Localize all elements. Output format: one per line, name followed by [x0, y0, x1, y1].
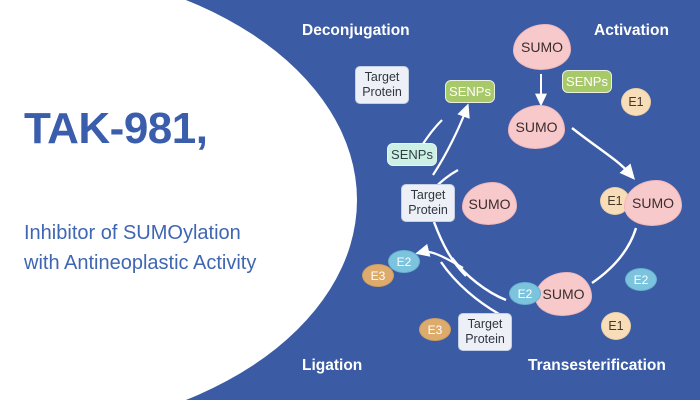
- node-e3-ligation: E3: [362, 264, 394, 287]
- node-senps-green-top: SENPs: [562, 70, 612, 93]
- target-protein-line-2: Protein: [465, 332, 505, 347]
- node-sumo-free: SUMO: [513, 24, 571, 70]
- node-e1-free: E1: [601, 312, 631, 340]
- node-e3-bottom: E3: [419, 318, 451, 341]
- node-senps-mint: SENPs: [387, 143, 437, 166]
- stage-label-transesterification: Transesterification: [528, 357, 666, 375]
- node-sumo-mature: SUMO: [508, 105, 565, 149]
- stage-label-ligation: Ligation: [302, 357, 362, 375]
- target-protein-line-1: Target: [411, 188, 446, 203]
- stage-label-activation: Activation: [594, 22, 669, 40]
- sumoylation-cycle-diagram: Deconjugation Activation Ligation Transe…: [0, 0, 700, 400]
- node-e1-top: E1: [621, 88, 651, 116]
- target-protein-line-2: Protein: [408, 203, 448, 218]
- node-senps-green-mid: SENPs: [445, 80, 495, 103]
- stage-label-deconjugation: Deconjugation: [302, 22, 410, 40]
- target-protein-line-1: Target: [365, 70, 400, 85]
- node-sumo-on-target: SUMO: [462, 182, 517, 225]
- node-target-protein-bottom: Target Protein: [458, 313, 512, 351]
- node-e2-ligation: E2: [388, 250, 420, 273]
- target-protein-line-1: Target: [468, 317, 503, 332]
- node-sumo-on-e2: SUMO: [535, 272, 592, 316]
- node-target-protein-free: Target Protein: [355, 66, 409, 104]
- node-target-protein-sumoylated: Target Protein: [401, 184, 455, 222]
- node-sumo-on-e1: SUMO: [624, 180, 682, 226]
- infographic-poster: TAK-981, Inhibitor of SUMOylation with A…: [0, 0, 700, 400]
- node-e2-free: E2: [625, 268, 657, 291]
- node-e2-conjugated: E2: [509, 282, 541, 305]
- target-protein-line-2: Protein: [362, 85, 402, 100]
